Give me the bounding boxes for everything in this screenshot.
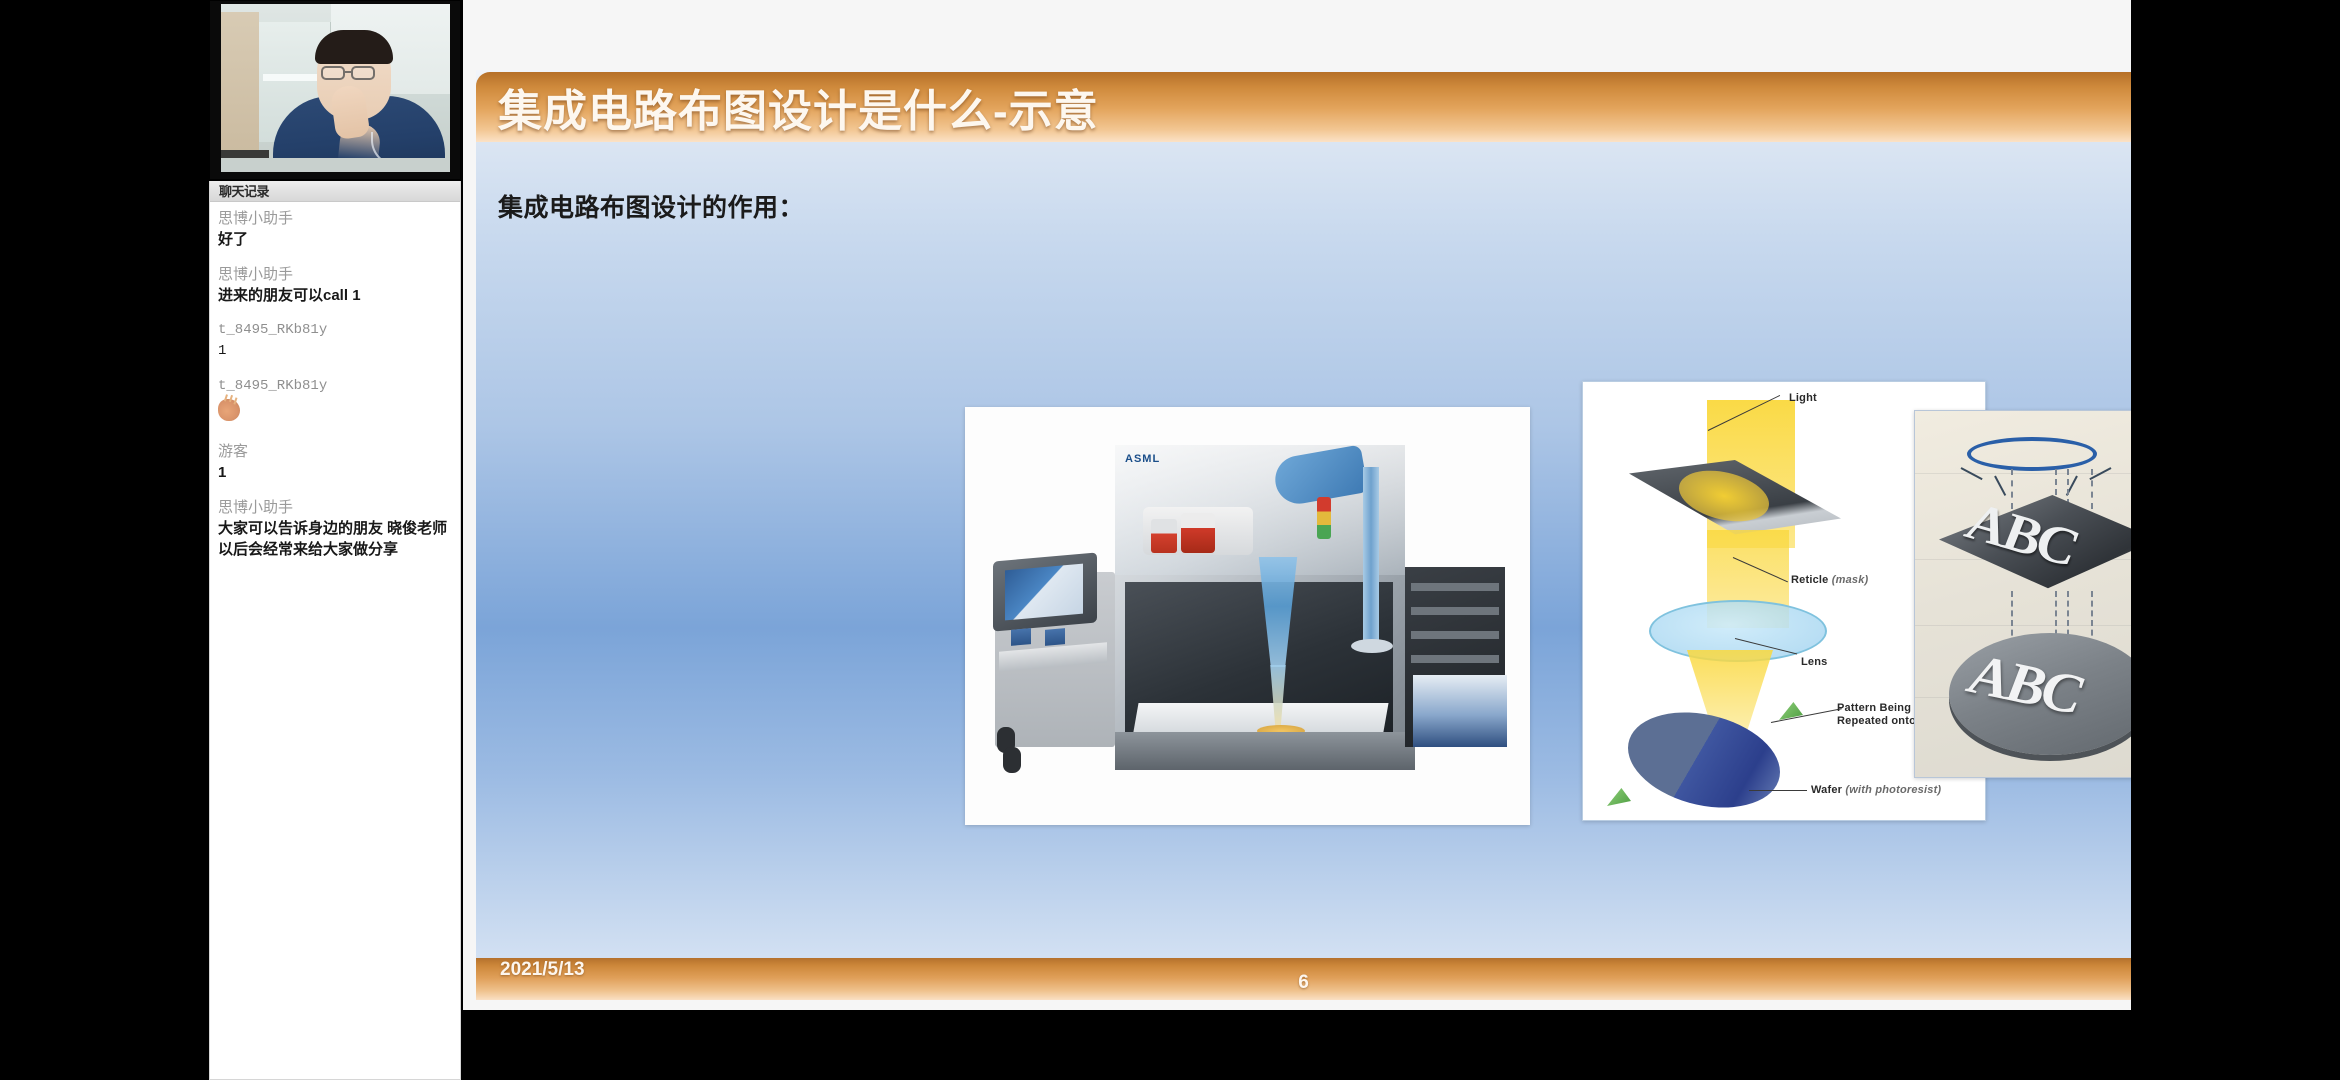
chat-message: 思博小助手 进来的朋友可以call 1 xyxy=(218,264,452,306)
slide-bottom-margin xyxy=(463,1000,2131,1010)
slide-title-bar: 集成电路布图设计是什么-示意 xyxy=(476,72,2131,142)
chat-message-author: t_8495_RKb81y xyxy=(218,320,452,341)
asml-coolant-pipe xyxy=(1363,467,1379,647)
chat-message-author: 游客 xyxy=(218,441,452,462)
mask-projection-figure: ABC ABC 光源 掩模 晶圆 xyxy=(1914,410,2131,778)
chat-message-text: 好了 xyxy=(218,229,452,250)
litho-label-lens: Lens xyxy=(1801,656,1827,669)
litho-label-reticle-group: Reticle (mask) xyxy=(1791,574,1868,587)
litho-label-wafer: Wafer xyxy=(1811,784,1842,796)
webcam-person-glasses-bridge xyxy=(345,71,353,73)
asml-reagent-bottle xyxy=(1151,519,1177,553)
litho-leader-line-wafer xyxy=(1749,790,1807,791)
asml-console-wheel xyxy=(1003,747,1021,773)
litho-label-reticle-note: (mask) xyxy=(1832,574,1869,586)
chat-message-text: 大家可以告诉身边的朋友 晓俊老师以后会经常来给大家做分享 xyxy=(218,518,452,560)
asml-console-screen xyxy=(1005,564,1083,621)
asml-brand-logo: ASML xyxy=(1125,453,1160,465)
chat-message-author: 思博小助手 xyxy=(218,264,452,285)
webcam-person-hair xyxy=(315,30,393,64)
litho-label-light: Light xyxy=(1789,392,1817,405)
chat-message-text: 进来的朋友可以call 1 xyxy=(218,285,452,306)
litho-leader-line-pattern xyxy=(1771,708,1842,723)
asml-machine-base xyxy=(1115,732,1415,770)
scan-projection-dash xyxy=(2067,469,2069,505)
chat-message-text xyxy=(218,397,452,427)
slide-footer-bar: 2021/5/13 6 xyxy=(476,958,2131,1000)
litho-green-marker xyxy=(1607,788,1631,806)
asml-wafer-cassette xyxy=(1413,675,1507,747)
light-source-ring-icon xyxy=(1967,437,2097,471)
chat-message: 思博小助手 好了 xyxy=(218,208,452,250)
chat-panel[interactable]: 聊天记录 思博小助手 好了 思博小助手 进来的朋友可以call 1 t_8495… xyxy=(209,181,461,1080)
presentation-slide[interactable]: ASML xyxy=(463,0,2131,1010)
webcam-bg-door xyxy=(221,12,259,172)
webcam-bottom-bar xyxy=(221,158,450,172)
litho-label-reticle: Reticle xyxy=(1791,574,1828,586)
chat-message-list[interactable]: 思博小助手 好了 思博小助手 进来的朋友可以call 1 t_8495_RKb8… xyxy=(210,202,460,560)
scan-paper-texture-line xyxy=(1915,625,2131,626)
chat-message-author: 思博小助手 xyxy=(218,208,452,229)
asml-rack-shelves xyxy=(1411,583,1499,591)
chat-message-text: 1 xyxy=(218,341,452,362)
asml-console-button xyxy=(1011,628,1031,646)
clapping-hands-icon xyxy=(218,399,240,421)
chat-message: 游客 1 xyxy=(218,441,452,483)
asml-console-button xyxy=(1045,628,1065,646)
scan-projection-dash xyxy=(2091,469,2093,509)
asml-signal-tower xyxy=(1317,497,1331,539)
chat-message-author: 思博小助手 xyxy=(218,497,452,518)
chat-panel-header: 聊天记录 xyxy=(210,181,460,202)
webcam-video-feed xyxy=(221,4,450,172)
chat-message: 思博小助手 大家可以告诉身边的朋友 晓俊老师以后会经常来给大家做分享 xyxy=(218,497,452,560)
chat-message-text: 1 xyxy=(218,462,452,483)
litho-wafer-disc xyxy=(1628,702,1780,818)
asml-reagent-bottle xyxy=(1181,513,1215,553)
webcam-person-glasses-left xyxy=(321,66,345,80)
chat-message: t_8495_RKb81y 1 xyxy=(218,320,452,362)
litho-label-wafer-note: (with photoresist) xyxy=(1845,784,1941,796)
meeting-left-column: 聊天记录 思博小助手 好了 思博小助手 进来的朋友可以call 1 t_8495… xyxy=(209,0,461,1080)
asml-machine-image: ASML xyxy=(965,407,1530,825)
presenter-webcam-tile[interactable] xyxy=(209,0,461,180)
asml-pipe-base xyxy=(1351,639,1393,653)
screen-root: 聊天记录 思博小助手 好了 思博小助手 进来的朋友可以call 1 t_8495… xyxy=(0,0,2340,1080)
slide-footer-page-number: 6 xyxy=(476,972,2131,994)
chat-message-author: t_8495_RKb81y xyxy=(218,376,452,397)
webcam-person-glasses-right xyxy=(351,66,375,80)
slide-title: 集成电路布图设计是什么-示意 xyxy=(476,75,1099,139)
chat-message: t_8495_RKb81y xyxy=(218,376,452,427)
slide-subtitle: 集成电路布图设计的作用： xyxy=(498,188,804,224)
litho-label-wafer-group: Wafer (with photoresist) xyxy=(1811,784,1941,797)
